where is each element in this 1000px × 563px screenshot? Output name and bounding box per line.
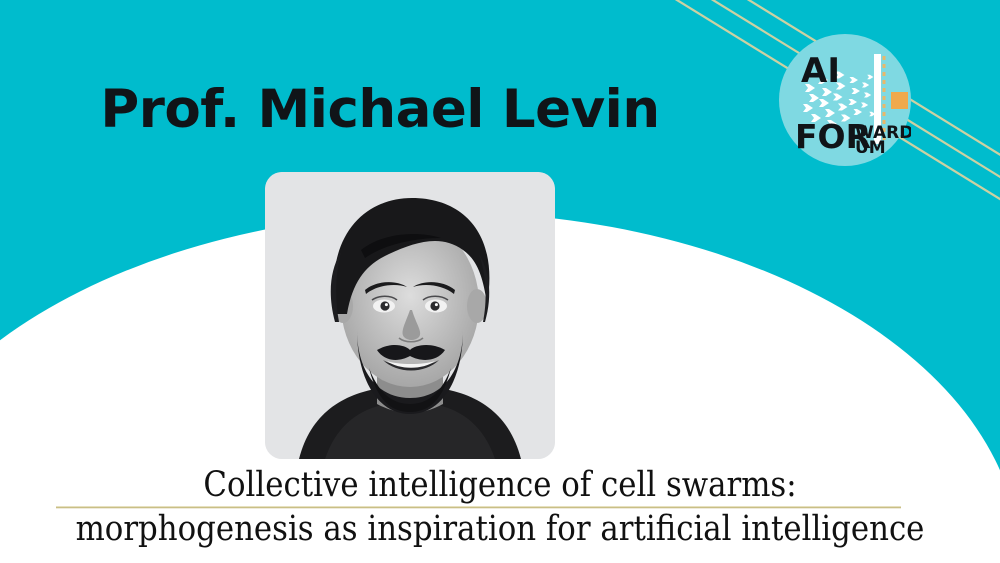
logo-orange-square xyxy=(891,92,908,109)
slide-canvas: Prof. Michael Levin xyxy=(0,0,1000,563)
logo-text-ai: AI xyxy=(801,51,840,91)
speaker-portrait-photo xyxy=(265,172,555,459)
ai-forward-logo[interactable]: AI FOR WARD UM xyxy=(779,34,911,166)
ai-forum-badge-icon: AI FOR WARD UM xyxy=(779,34,911,166)
talk-title: Collective intelligence of cell swarms: … xyxy=(0,463,1000,551)
page-title: Prof. Michael Levin xyxy=(0,83,760,136)
logo-text-um: UM xyxy=(855,138,886,158)
talk-title-line-1: Collective intelligence of cell swarms: xyxy=(60,463,940,507)
portrait-illustration xyxy=(265,172,555,459)
talk-title-line-2: morphogenesis as inspiration for artific… xyxy=(60,507,940,551)
